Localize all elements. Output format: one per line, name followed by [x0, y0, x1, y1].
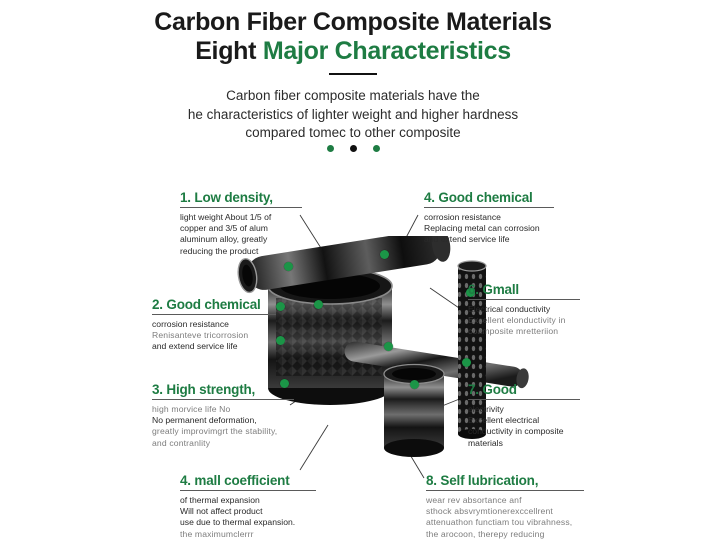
callout-body-line: Electrical conductivity: [468, 304, 580, 315]
callout-body-line: and contranlity: [152, 438, 294, 449]
callout-body-line: Excellent electrical: [468, 415, 580, 426]
callout-body-line: attenuathon functiam tou vibrahness,: [426, 517, 584, 528]
callout-body-line: and extend service life: [152, 341, 276, 352]
callout-body-line: the maximumclerrr: [180, 529, 316, 540]
callout-self-lubrication[interactable]: 8. Self lubrication, wear rev absortance…: [426, 473, 584, 541]
callout-body: corrosion resistance Renisanteve tricorr…: [152, 319, 276, 353]
callout-body: high morvice life No No permanent deform…: [152, 404, 294, 449]
callout-body: wear rev absortance anf sthock absvrymti…: [426, 495, 584, 541]
callout-body-line: corrosion resistance: [424, 212, 554, 223]
callout-body-line: the arocoon, therepy reducing: [426, 529, 584, 540]
callout-body-line: of thermal expansion: [180, 495, 316, 506]
callout-body-line: reducing the product: [180, 246, 302, 257]
callout-underline: [180, 207, 302, 208]
callout-heading: 4. mall coefficient: [180, 473, 316, 490]
callout-heading: 2. Good chemical: [152, 297, 276, 314]
callout-body: electrivity Excellent electrical conduct…: [468, 404, 580, 449]
callout-heading: 4. Good chemical: [424, 190, 554, 207]
callout-body-line: use due to thermal expansion.: [180, 517, 316, 528]
marker-dot-5: [276, 336, 285, 345]
callout-heading: 7. Good: [468, 382, 580, 399]
callout-body: corrosion resistance Replacing metal can…: [424, 212, 554, 246]
callout-small-coefficient[interactable]: 4. mall coefficient of thermal expansion…: [180, 473, 316, 540]
callout-body-line: electrivity: [468, 404, 580, 415]
callout-heading: 6. Gmall: [468, 282, 580, 299]
callout-body-line: materials: [468, 438, 580, 449]
callout-underline: [152, 399, 294, 400]
callout-heading: 1. Low density,: [180, 190, 302, 207]
callout-underline: [152, 314, 276, 315]
callout-body-line: Replacing metal can corrosion: [424, 223, 554, 234]
marker-dot-2: [380, 250, 389, 259]
marker-dot-3: [314, 300, 323, 309]
callout-good-electrivity[interactable]: 7. Good electrivity Excellent electrical…: [468, 382, 580, 449]
callout-body-line: and extend service life: [424, 234, 554, 245]
callout-body: light weight About 1/5 of copper and 3/5…: [180, 212, 302, 257]
callout-body-line: Will not affect product: [180, 506, 316, 517]
callout-body-line: aluminum alloy, greatly: [180, 234, 302, 245]
callout-body-line: corrosion resistance: [152, 319, 276, 330]
callout-body-line: light weight About 1/5 of: [180, 212, 302, 223]
callout-heading: 8. Self lubrication,: [426, 473, 584, 490]
infographic-canvas: Carbon Fiber Composite Materials Eight M…: [0, 0, 706, 541]
callout-body-line: copper and 3/5 of alum: [180, 223, 302, 234]
callout-underline: [426, 490, 584, 491]
callout-body-line: Renisanteve tricorrosion: [152, 330, 276, 341]
marker-dot-7: [384, 342, 393, 351]
callout-low-density[interactable]: 1. Low density, light weight About 1/5 o…: [180, 190, 302, 257]
callout-underline: [180, 490, 316, 491]
callout-underline: [468, 399, 580, 400]
callout-high-strength[interactable]: 3. High strength, high morvice life No N…: [152, 382, 294, 449]
callout-body-line: No permanent deformation,: [152, 415, 294, 426]
callout-body-line: high morvice life No: [152, 404, 294, 415]
callout-body-line: wear rev absortance anf: [426, 495, 584, 506]
callout-body-line: greatly improvimgrt the stability,: [152, 426, 294, 437]
callout-gmall[interactable]: 6. Gmall Electrical conductivity Excelle…: [468, 282, 580, 338]
callout-body-line: conductivity in composite: [468, 426, 580, 437]
callout-body-line: Excellent elonductivity in: [468, 315, 580, 326]
callout-body-line: sthock absvrymtionerexccellrent: [426, 506, 584, 517]
callout-body: of thermal expansion Will not affect pro…: [180, 495, 316, 540]
callout-body-line: coamposite mretteriion: [468, 326, 580, 337]
callout-underline: [468, 299, 580, 300]
marker-dot-8: [410, 380, 419, 389]
marker-dot-4: [276, 302, 285, 311]
callout-body: Electrical conductivity Excellent elondu…: [468, 304, 580, 338]
callout-underline: [424, 207, 554, 208]
marker-dot-1: [284, 262, 293, 271]
marker-dot-10: [462, 358, 471, 367]
callout-good-chemical-right[interactable]: 4. Good chemical corrosion resistance Re…: [424, 190, 554, 246]
callout-heading: 3. High strength,: [152, 382, 294, 399]
callout-good-chemical-left[interactable]: 2. Good chemical corrosion resistance Re…: [152, 297, 276, 353]
